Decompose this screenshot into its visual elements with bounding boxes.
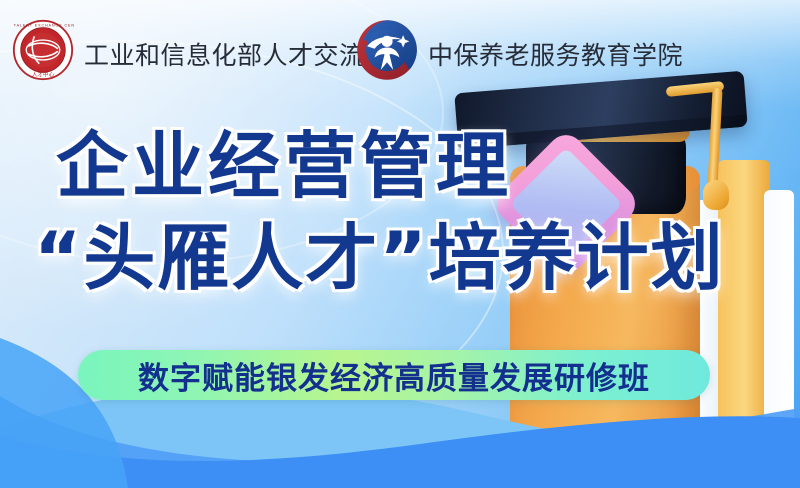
zhongbao-academy-emblem-icon — [356, 19, 418, 81]
org-right-name: 中保养老服务教育学院 — [428, 36, 683, 72]
promotional-poster: MIIT TALENT EXCHANGE CENTER 人才中心 工业和信息化部… — [0, 0, 800, 488]
miit-talent-exchange-center-seal-icon: MIIT TALENT EXCHANGE CENTER 人才中心 — [12, 19, 74, 81]
poster-header: MIIT TALENT EXCHANGE CENTER 人才中心 工业和信息化部… — [0, 0, 800, 96]
headline-line-2: “头雁人才”培养计划 — [34, 222, 725, 294]
svg-text:MIIT TALENT EXCHANGE CENTER: MIIT TALENT EXCHANGE CENTER — [12, 23, 74, 27]
headline-line-1: 企业经营管理 — [56, 130, 512, 202]
subtitle-text: 数字赋能银发经济高质量发展研修班 — [78, 350, 710, 400]
graduation-cap-tassel-knob — [703, 180, 729, 210]
subtitle-pill: 数字赋能银发经济高质量发展研修班 — [78, 350, 710, 400]
